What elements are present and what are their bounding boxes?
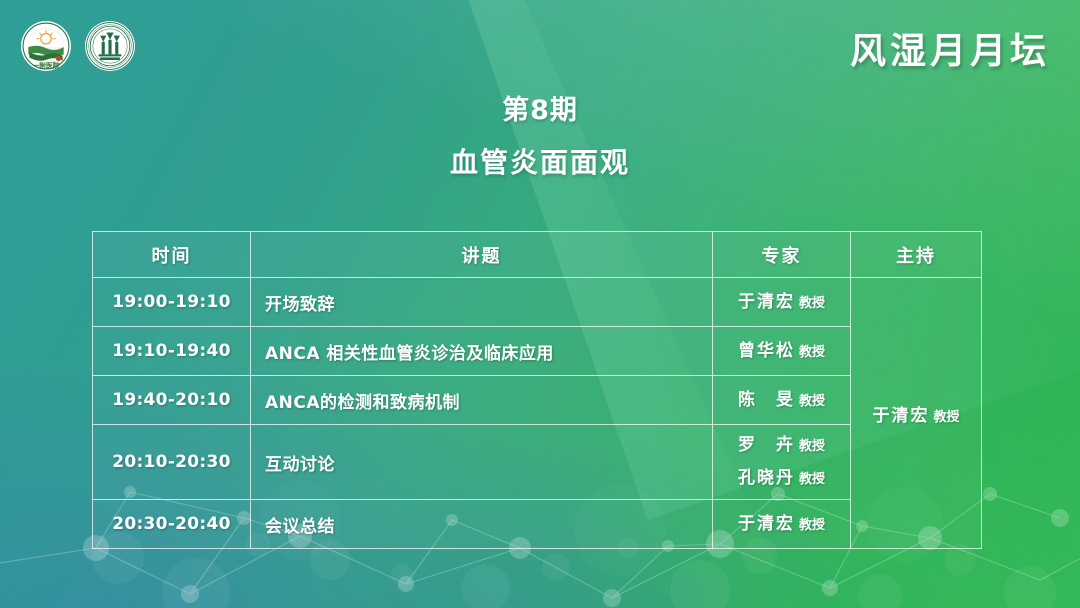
cell-expert: 于清宏教授	[713, 278, 851, 327]
cell-topic: ANCA的检测和致病机制	[251, 376, 713, 425]
cell-time: 19:10-19:40	[93, 327, 251, 376]
issue-number: 第8期	[0, 94, 1080, 128]
agenda-table: 时间 讲题 专家 主持 19:00-19:10 开场致辞 于清宏教授	[92, 231, 982, 549]
cell-time: 19:40-20:10	[93, 376, 251, 425]
host-name: 于清宏	[872, 406, 929, 426]
header-topic: 讲题	[251, 232, 713, 278]
cell-topic: ANCA 相关性血管炎诊治及临床应用	[251, 327, 713, 376]
table-row: 19:00-19:10 开场致辞 于清宏教授 于清宏教授	[93, 278, 982, 327]
svg-text:一附医院: 一附医院	[32, 61, 59, 70]
header-time: 时间	[93, 232, 251, 278]
cell-expert: 陈 旻教授	[713, 376, 851, 425]
cell-topic: 会议总结	[251, 500, 713, 549]
table-row: 20:30-20:40 会议总结 于清宏教授	[93, 500, 982, 549]
table-row: 19:10-19:40 ANCA 相关性血管炎诊治及临床应用 曾华松教授	[93, 327, 982, 376]
header-host: 主持	[851, 232, 982, 278]
cell-topic: 开场致辞	[251, 278, 713, 327]
agenda-table-container: 时间 讲题 专家 主持 19:00-19:10 开场致辞 于清宏教授	[92, 231, 981, 549]
expert-title: 教授	[799, 296, 825, 311]
expert-name: 罗 卉	[738, 435, 795, 455]
expert-title: 教授	[799, 439, 825, 454]
cell-expert: 罗 卉教授 孔晓丹教授	[713, 425, 851, 500]
expert-name: 陈 旻	[738, 390, 795, 410]
expert-title: 教授	[799, 472, 825, 487]
cell-host: 于清宏教授	[851, 278, 982, 549]
cell-expert: 于清宏教授	[713, 500, 851, 549]
cell-time: 20:10-20:30	[93, 425, 251, 500]
expert-name: 孔晓丹	[738, 468, 795, 488]
table-header-row: 时间 讲题 专家 主持	[93, 232, 982, 278]
expert-title: 教授	[799, 345, 825, 360]
university-emblem-icon	[84, 20, 136, 72]
expert-title: 教授	[799, 518, 825, 533]
cell-topic: 互动讨论	[251, 425, 713, 500]
slide-canvas: 一附医院 风湿月月坛 第8期 血管炎面面观	[0, 0, 1080, 608]
hospital-emblem-icon: 一附医院	[20, 20, 72, 72]
cell-time: 20:30-20:40	[93, 500, 251, 549]
header-expert: 专家	[713, 232, 851, 278]
expert-title: 教授	[799, 394, 825, 409]
expert-name: 于清宏	[738, 292, 795, 312]
expert-name: 于清宏	[738, 514, 795, 534]
session-topic: 血管炎面面观	[0, 141, 1080, 181]
brand-title: 风湿月月坛	[850, 22, 1050, 74]
expert-name: 曾华松	[738, 341, 795, 361]
cell-time: 19:00-19:10	[93, 278, 251, 327]
agenda-table-body: 19:00-19:10 开场致辞 于清宏教授 于清宏教授 19:10-19:40…	[93, 278, 982, 549]
table-row: 20:10-20:30 互动讨论 罗 卉教授 孔晓丹教授	[93, 425, 982, 500]
host-title: 教授	[933, 410, 959, 425]
table-row: 19:40-20:10 ANCA的检测和致病机制 陈 旻教授	[93, 376, 982, 425]
cell-expert: 曾华松教授	[713, 327, 851, 376]
logo-group: 一附医院	[20, 20, 136, 72]
title-block: 第8期 血管炎面面观	[0, 94, 1080, 181]
